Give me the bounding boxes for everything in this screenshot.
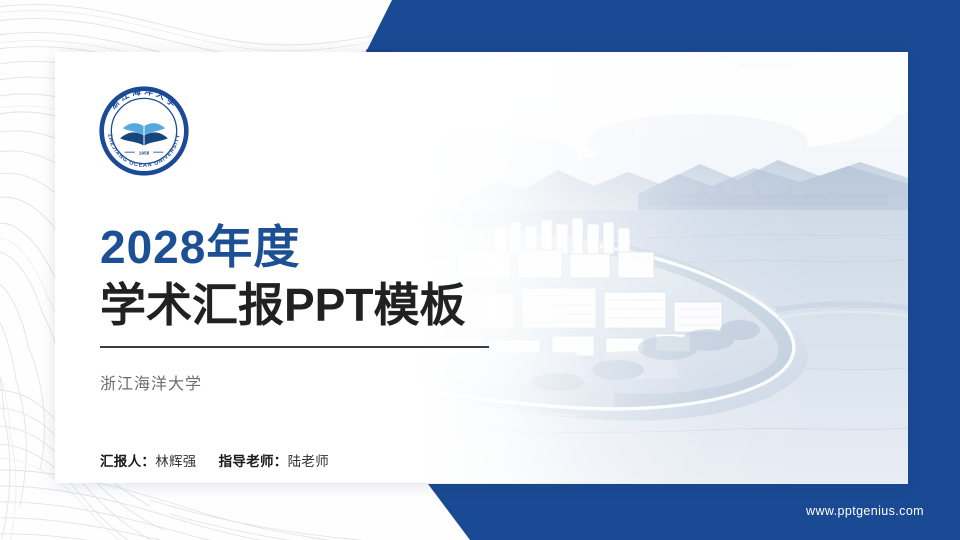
title-block: 2028年度 学术汇报PPT模板 浙江海洋大学: [100, 222, 570, 394]
organization-name: 浙江海洋大学: [100, 370, 570, 394]
content-card: 浙江海洋大学 ZHEJIANG OCEAN UNIVERSITY 1958 20…: [55, 52, 908, 483]
advisor-label: 指导老师：: [219, 454, 288, 469]
presenter-label: 汇报人：: [100, 454, 155, 469]
presentation-slide: 浙江海洋大学 ZHEJIANG OCEAN UNIVERSITY 1958 20…: [0, 0, 960, 540]
title-divider: [100, 346, 489, 348]
title-main: 学术汇报PPT模板: [100, 278, 570, 332]
presenter-info: 汇报人：林辉强指导老师：陆老师: [100, 450, 329, 470]
site-url[interactable]: www.pptgenius.com: [806, 504, 924, 518]
title-year: 2028年度: [100, 222, 570, 274]
svg-text:1958: 1958: [139, 150, 150, 156]
presenter-name: 林辉强: [155, 454, 196, 469]
advisor-name: 陆老师: [288, 454, 329, 469]
university-logo: 浙江海洋大学 ZHEJIANG OCEAN UNIVERSITY 1958: [98, 85, 190, 177]
